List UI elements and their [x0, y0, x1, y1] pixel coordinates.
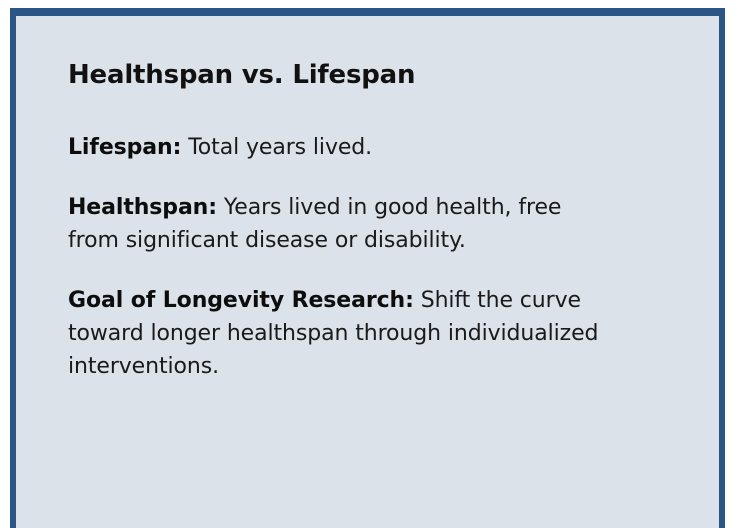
slide-canvas: Healthspan vs. Lifespan Lifespan: Total … [0, 0, 741, 486]
info-card: Healthspan vs. Lifespan Lifespan: Total … [10, 8, 725, 528]
card-body: Healthspan vs. Lifespan Lifespan: Total … [68, 60, 679, 383]
definition-healthspan: Healthspan: Years lived in good health, … [68, 191, 608, 257]
definition-goal: Goal of Longevity Research: Shift the cu… [68, 284, 608, 383]
definition-lifespan: Lifespan: Total years lived. [68, 131, 608, 164]
definition-goal-label: Goal of Longevity Research: [68, 288, 414, 313]
definition-lifespan-text: Total years lived. [181, 135, 372, 160]
definition-lifespan-label: Lifespan: [68, 135, 181, 160]
definition-healthspan-label: Healthspan: [68, 195, 217, 220]
page-title: Healthspan vs. Lifespan [68, 60, 679, 90]
